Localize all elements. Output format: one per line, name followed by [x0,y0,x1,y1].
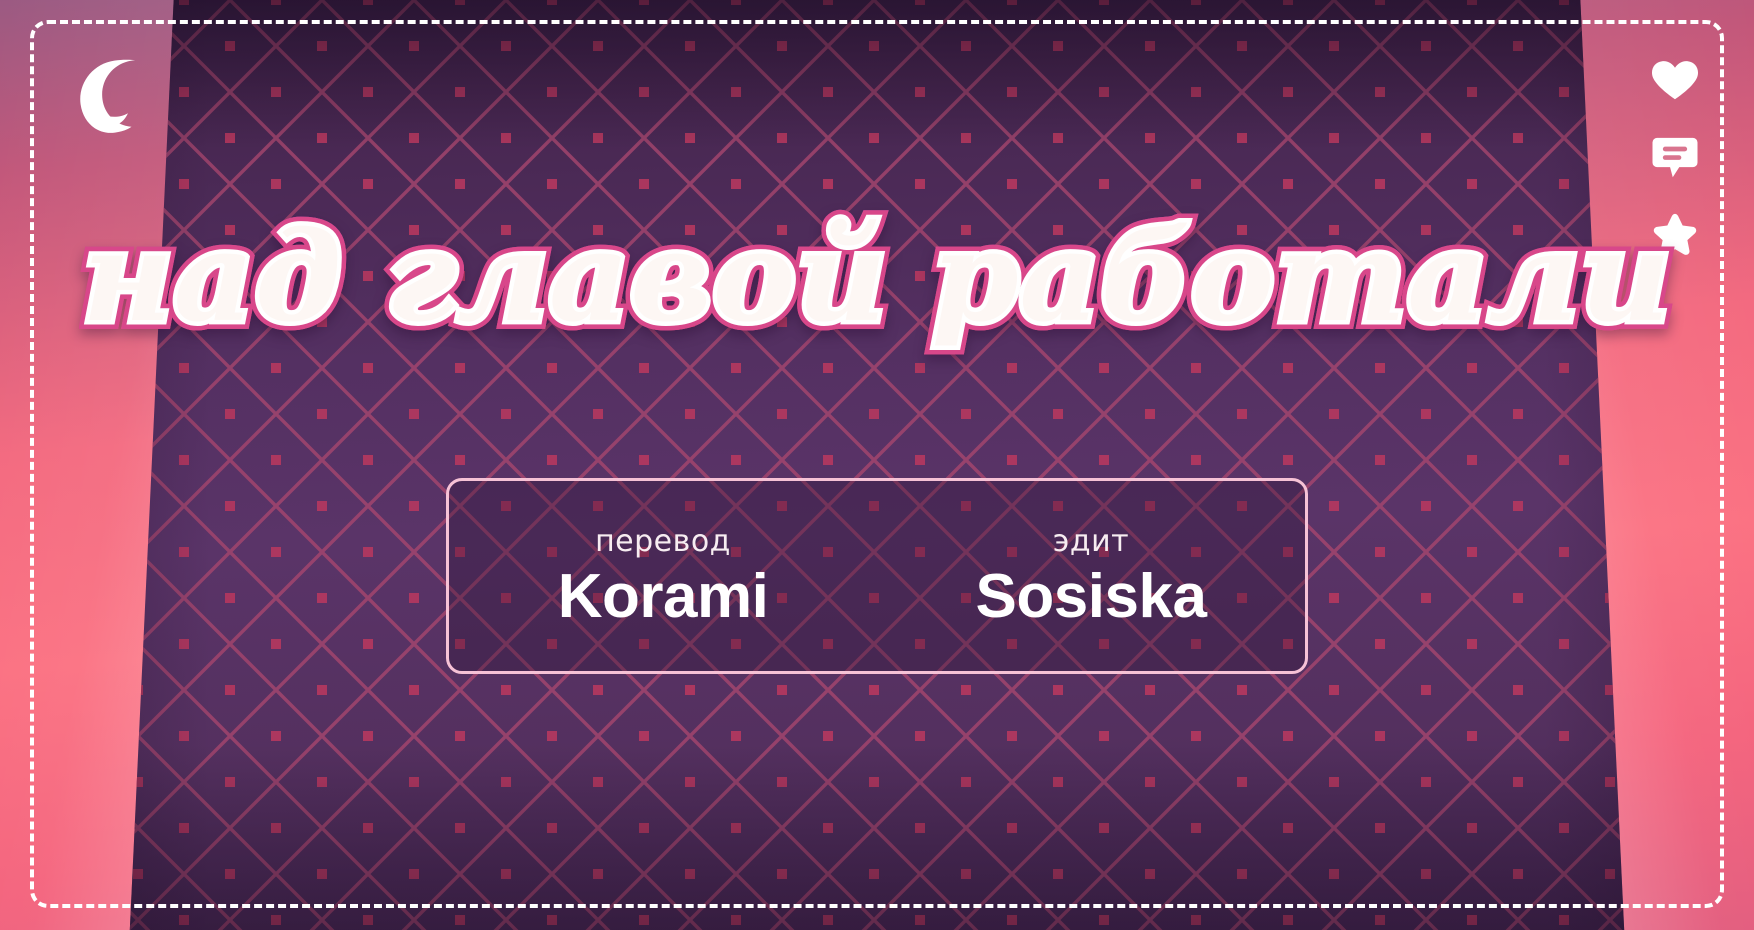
credits-screen: над главой работали над главой работали … [0,0,1754,930]
credit-entry-edit: эдит Sosiska [877,524,1305,628]
star-icon[interactable] [1648,208,1702,262]
credit-name-value: Sosiska [887,565,1295,628]
social-icon-rail[interactable] [1648,52,1702,262]
heart-icon[interactable] [1648,52,1702,106]
panel-vignette [0,0,1754,930]
credit-role-label: перевод [459,524,867,559]
credit-entry-translation: перевод Korami [449,524,877,628]
credits-card: перевод Korami эдит Sosiska [446,478,1308,674]
crescent-moon-icon [66,53,152,139]
comment-icon[interactable] [1648,130,1702,184]
credit-role-label: эдит [887,524,1295,559]
credit-name-value: Korami [459,565,867,628]
